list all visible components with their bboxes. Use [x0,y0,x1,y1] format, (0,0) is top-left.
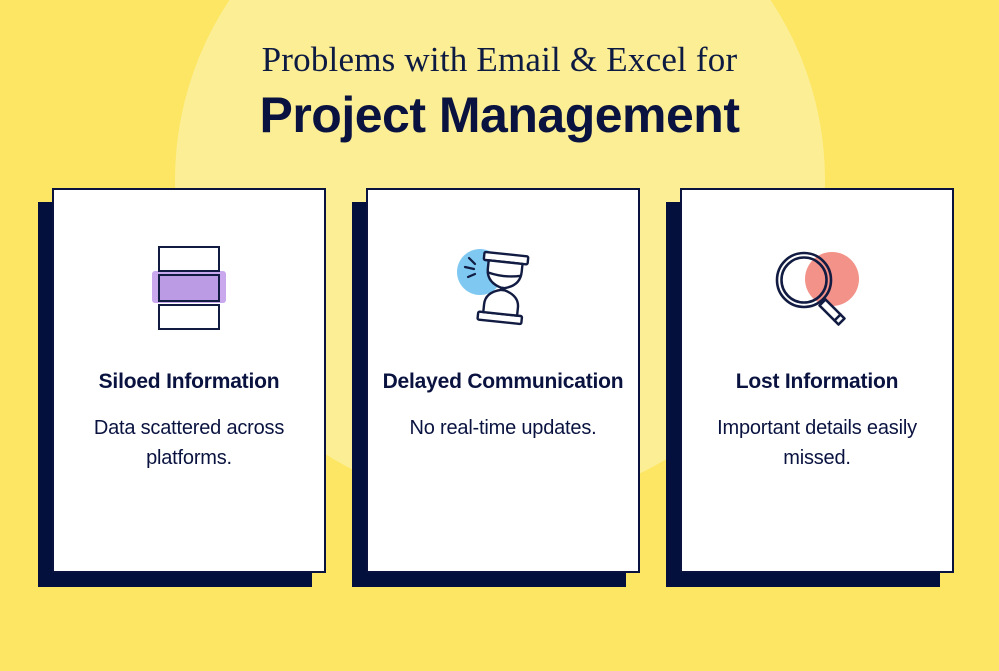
page-title: Problems with Email & Excel for Project … [0,38,999,146]
card-surface: Lost Information Important details easil… [680,188,954,573]
card-icon-slot [752,232,882,342]
magnifier-glyph [767,244,867,330]
card-body-text: Data scattered across platforms. [54,413,324,473]
card-heading: Siloed Information [89,366,290,397]
card-heading: Lost Information [726,366,908,397]
card-siloed-information: Siloed Information Data scattered across… [52,188,326,573]
card-body-text: No real-time updates. [399,413,606,443]
card-surface: Siloed Information Data scattered across… [52,188,326,573]
card-icon-slot [438,232,568,342]
silo-bar-top [158,246,220,272]
card-lost-information: Lost Information Important details easil… [680,188,954,573]
stacked-silos-icon [158,246,220,328]
title-line-1: Problems with Email & Excel for [0,38,999,82]
card-heading: Delayed Communication [373,366,634,397]
card-body-text: Important details easily missed. [682,413,952,473]
card-delayed-communication: Delayed Communication No real-time updat… [366,188,640,573]
magnifying-glass-icon [767,244,867,330]
card-surface: Delayed Communication No real-time updat… [366,188,640,573]
title-line-2: Project Management [0,84,999,146]
infographic-canvas: Problems with Email & Excel for Project … [0,0,999,671]
silo-bar-bottom [158,304,220,330]
hourglass-motion-lines [465,258,475,277]
hourglass-glyph [455,244,551,330]
card-icon-slot [124,232,254,342]
silo-bar-middle-filled [158,274,220,302]
hourglass-icon [455,244,551,330]
